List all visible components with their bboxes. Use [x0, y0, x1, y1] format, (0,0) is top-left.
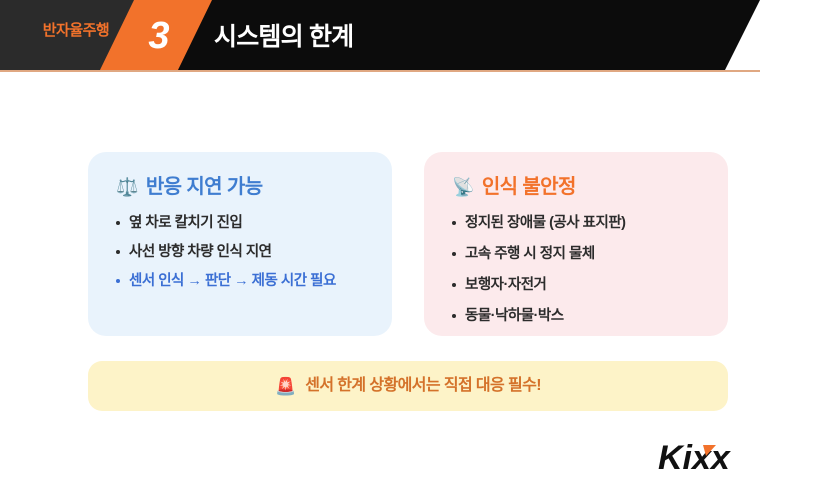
brand-logo: Kixx — [654, 436, 790, 478]
police-light-icon: 🚨 — [275, 378, 296, 395]
card-title-text: 인식 불안정 — [482, 174, 576, 200]
card-recognition-instability: 📡 인식 불안정 정지된 장애물 (공사 표지판) 고속 주행 시 정지 물체 … — [424, 152, 728, 336]
card-title-reaction-delay: ⚖️ 반응 지연 가능 — [116, 174, 368, 200]
list-item: 센서 인식 → 판단 → 제동 시간 필요 — [114, 272, 368, 290]
kixx-logo-mark: Kixx — [654, 436, 790, 478]
list-item: 보행자·자전거 — [450, 276, 704, 294]
list-item: 고속 주행 시 정지 물체 — [450, 245, 704, 263]
slide-header: 반자율주행 3 시스템의 한계 — [0, 0, 760, 72]
list-item: 옆 차로 칼치기 진입 — [114, 214, 368, 232]
balance-scale-icon: ⚖️ — [116, 178, 138, 196]
bullet-list-reaction-delay: 옆 차로 칼치기 진입 사선 방향 차량 인식 지연 센서 인식 → 판단 → … — [114, 214, 368, 290]
page-title: 시스템의 한계 — [214, 21, 353, 53]
note-banner-text: 센서 한계 상황에서는 직접 대응 필수! — [305, 376, 541, 396]
note-banner: 🚨 센서 한계 상황에서는 직접 대응 필수! — [88, 361, 728, 411]
list-item: 사선 방향 차량 인식 지연 — [114, 243, 368, 261]
satellite-antenna-icon: 📡 — [452, 178, 474, 196]
list-item: 동물·낙하물·박스 — [450, 307, 704, 325]
card-reaction-delay: ⚖️ 반응 지연 가능 옆 차로 칼치기 진입 사선 방향 차량 인식 지연 센… — [88, 152, 392, 336]
card-title-recognition-instability: 📡 인식 불안정 — [452, 174, 704, 200]
header-underline — [0, 70, 760, 72]
card-title-text: 반응 지연 가능 — [146, 174, 263, 200]
header-step-number: 3 — [136, 12, 182, 60]
list-item: 정지된 장애물 (공사 표지판) — [450, 214, 704, 232]
kixx-logo-text: Kixx — [658, 439, 732, 477]
bullet-list-recognition-instability: 정지된 장애물 (공사 표지판) 고속 주행 시 정지 물체 보행자·자전거 동… — [450, 214, 704, 325]
header-kicker: 반자율주행 — [26, 23, 126, 38]
